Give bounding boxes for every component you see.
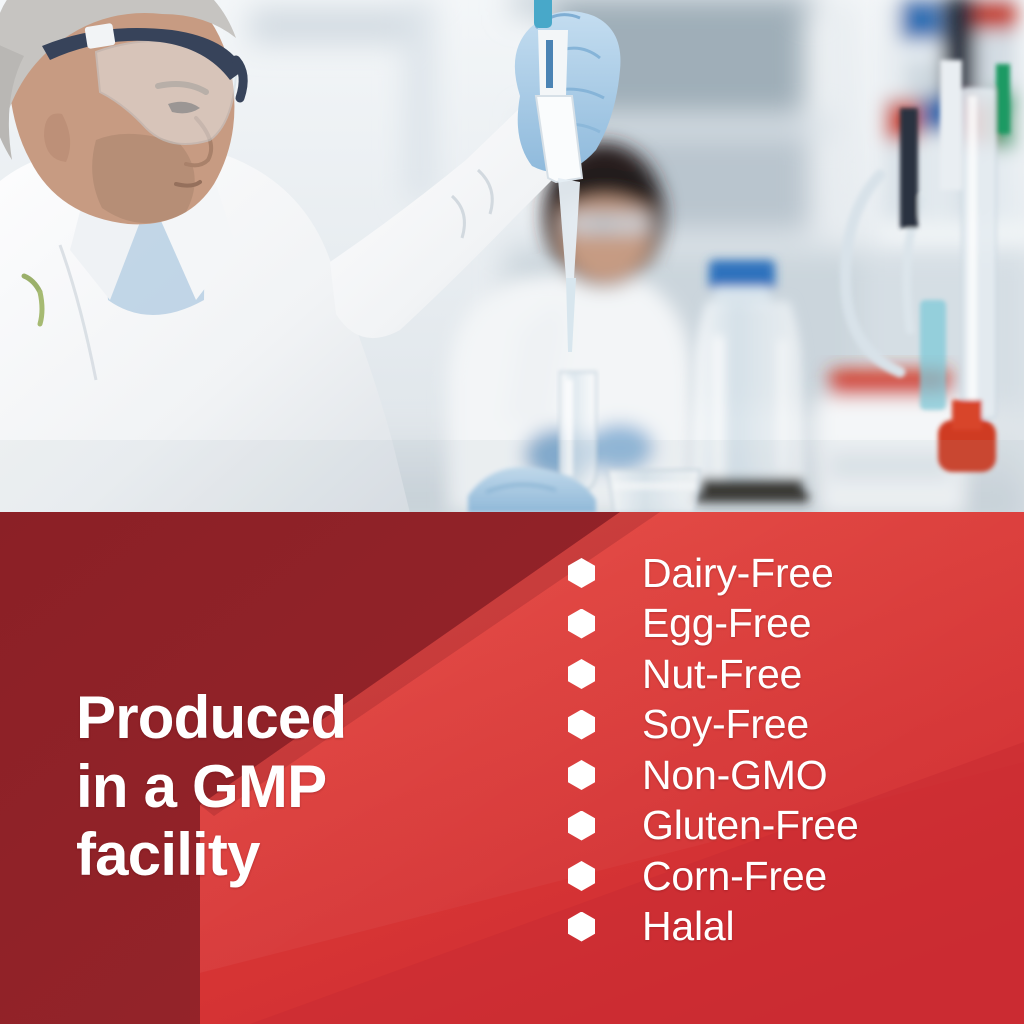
- list-item: Egg-Free: [568, 599, 859, 649]
- red-panel: Produced in a GMP facility Dairy-Free Eg…: [0, 512, 1024, 1024]
- promo-poster: Produced in a GMP facility Dairy-Free Eg…: [0, 0, 1024, 1024]
- benefit-label: Dairy-Free: [642, 553, 834, 594]
- hexagon-bullet-icon: [568, 861, 595, 891]
- benefit-label: Egg-Free: [642, 603, 811, 644]
- list-item: Nut-Free: [568, 649, 859, 699]
- page-title: Produced in a GMP facility: [76, 684, 496, 889]
- benefit-label: Non-GMO: [642, 755, 827, 796]
- hexagon-bullet-icon: [568, 760, 595, 790]
- list-item: Dairy-Free: [568, 548, 859, 598]
- list-item: Corn-Free: [568, 851, 859, 901]
- hexagon-bullet-icon: [568, 710, 595, 740]
- hexagon-bullet-icon: [568, 609, 595, 639]
- benefit-label: Corn-Free: [642, 856, 827, 897]
- lab-photo-illustration: [0, 0, 1024, 513]
- benefit-label: Nut-Free: [642, 654, 802, 695]
- hexagon-bullet-icon: [568, 659, 595, 689]
- list-item: Soy-Free: [568, 700, 859, 750]
- hexagon-bullet-icon: [568, 558, 595, 588]
- hexagon-bullet-icon: [568, 811, 595, 841]
- benefit-label: Halal: [642, 906, 734, 947]
- lab-photo: [0, 0, 1024, 513]
- benefit-label: Soy-Free: [642, 704, 809, 745]
- benefits-list: Dairy-Free Egg-Free Nut-Free Soy-Free No…: [568, 548, 859, 952]
- list-item: Gluten-Free: [568, 801, 859, 851]
- list-item: Non-GMO: [568, 750, 859, 800]
- list-item: Halal: [568, 902, 859, 952]
- benefit-label: Gluten-Free: [642, 805, 859, 846]
- hexagon-bullet-icon: [568, 912, 595, 942]
